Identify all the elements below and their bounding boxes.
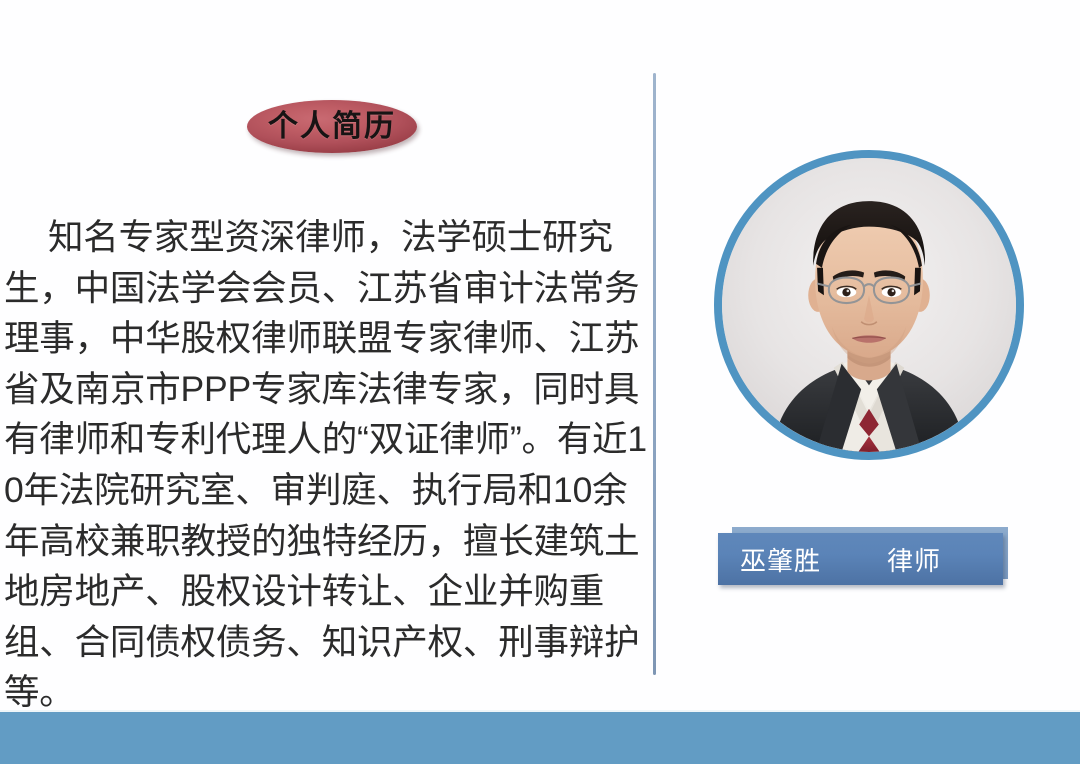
person-role: 律师 xyxy=(887,541,941,578)
person-name: 巫肇胜 xyxy=(740,541,821,578)
section-title-badge: 个人简历 xyxy=(247,100,417,153)
portrait-photo xyxy=(722,158,1016,452)
portrait-ring xyxy=(714,150,1024,460)
section-title-text: 个人简历 xyxy=(268,112,396,142)
portrait-container xyxy=(714,150,1024,460)
biography-paragraph: 知名专家型资深律师，法学硕士研究生，中国法学会会员、江苏省审计法常务理事，中华股… xyxy=(4,212,649,718)
name-banner-container: 巫肇胜 律师 xyxy=(718,527,1008,591)
slide-canvas: 个人简历 知名专家型资深律师，法学硕士研究生，中国法学会会员、江苏省审计法常务理… xyxy=(0,0,1080,764)
left-content-column: 个人简历 知名专家型资深律师，法学硕士研究生，中国法学会会员、江苏省审计法常务理… xyxy=(0,0,655,712)
right-profile-column: 巫肇胜 律师 xyxy=(655,0,1080,712)
name-banner: 巫肇胜 律师 xyxy=(718,533,1003,585)
footer-bar xyxy=(0,712,1080,764)
